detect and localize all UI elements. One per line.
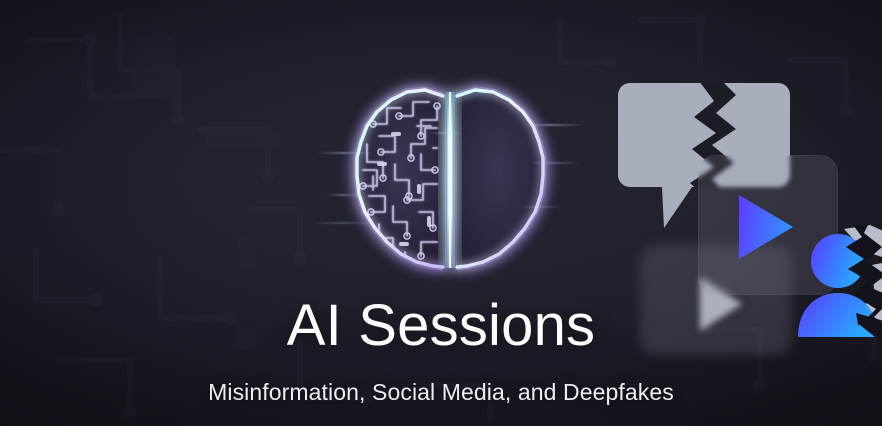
- glitch-streak: [519, 206, 563, 208]
- page-title: AI Sessions: [0, 296, 882, 357]
- brain-svg: [333, 66, 567, 292]
- glitch-streak: [429, 132, 463, 134]
- glitch-streak: [523, 124, 585, 126]
- page-subtitle: Misinformation, Social Media, and Deepfa…: [0, 379, 882, 406]
- circuit-brain-icon: [333, 66, 567, 292]
- glitch-streak: [529, 162, 581, 164]
- glitch-streak: [317, 152, 373, 154]
- glitch-streak: [325, 194, 365, 196]
- slide-canvas: AI Sessions Misinformation, Social Media…: [0, 0, 882, 426]
- glitch-streak: [313, 222, 377, 224]
- brain-center-seam: [445, 92, 455, 268]
